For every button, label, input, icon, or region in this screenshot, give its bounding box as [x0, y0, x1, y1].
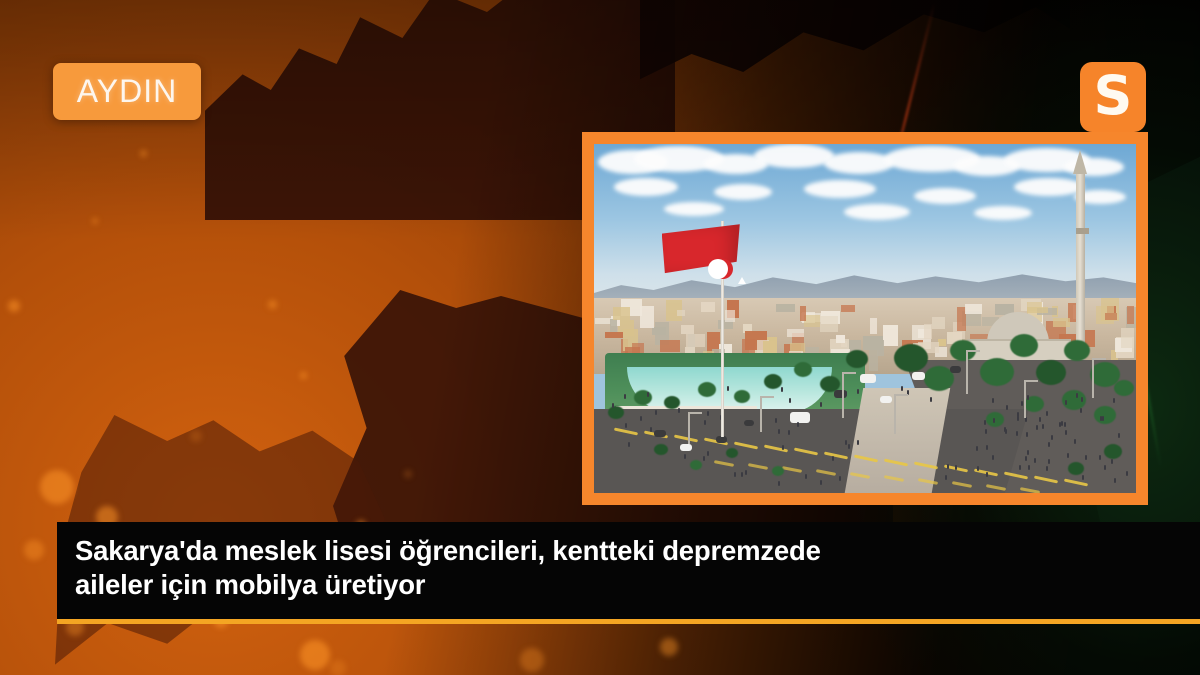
pedestrian: [805, 474, 807, 479]
pedestrian: [1061, 421, 1063, 426]
pedestrian: [684, 454, 686, 459]
tree: [1104, 444, 1122, 459]
tree: [980, 358, 1014, 386]
building: [787, 329, 804, 337]
pedestrian: [1065, 430, 1067, 435]
pedestrian: [845, 440, 847, 445]
building: [1053, 318, 1070, 327]
building: [932, 317, 945, 329]
vehicle: [744, 420, 754, 426]
flag-star-icon: [738, 277, 746, 284]
cloud: [614, 178, 678, 196]
pedestrian: [612, 403, 614, 408]
pedestrian: [1005, 429, 1007, 434]
building: [1027, 307, 1048, 313]
pedestrian: [1048, 459, 1050, 464]
pedestrian: [977, 466, 979, 471]
pedestrian: [781, 387, 783, 392]
pedestrian: [1074, 439, 1076, 444]
building: [681, 325, 694, 334]
pedestrian: [1082, 475, 1084, 480]
building: [804, 315, 820, 327]
tree: [772, 466, 784, 476]
pedestrian: [992, 398, 994, 403]
pedestrian: [857, 440, 859, 445]
pedestrian: [1126, 471, 1128, 476]
pedestrian: [1080, 408, 1082, 413]
pedestrian: [703, 456, 705, 461]
building: [841, 305, 855, 312]
cloud: [914, 188, 976, 204]
brand-logo[interactable]: S: [1080, 62, 1146, 132]
building: [836, 335, 845, 343]
pedestrian: [986, 445, 988, 450]
pedestrian: [625, 423, 627, 428]
building: [660, 340, 680, 352]
pedestrian: [782, 445, 784, 450]
building: [863, 336, 883, 350]
cloud: [714, 184, 772, 200]
tree: [986, 412, 1004, 427]
tree: [698, 382, 716, 397]
headline-bar: Sakarya'da meslek lisesi öğrencileri, ke…: [57, 522, 1200, 624]
pedestrian: [1067, 453, 1069, 458]
building: [1121, 328, 1134, 348]
building: [870, 318, 877, 334]
pedestrian: [1028, 465, 1030, 470]
pedestrian: [1017, 416, 1019, 421]
vehicle: [912, 372, 925, 380]
tree: [794, 362, 812, 377]
pedestrian: [1006, 405, 1008, 410]
pedestrian: [1016, 431, 1018, 436]
pedestrian: [945, 475, 947, 480]
tree: [1064, 340, 1090, 361]
pedestrian: [707, 411, 709, 416]
pedestrian: [1104, 465, 1106, 470]
tree: [1010, 334, 1038, 357]
pedestrian: [1113, 398, 1115, 403]
pedestrian: [930, 397, 932, 402]
building: [1127, 306, 1134, 324]
pedestrian: [1064, 422, 1066, 427]
pedestrian: [1065, 400, 1067, 405]
cloud: [1014, 178, 1084, 196]
tree: [690, 460, 702, 470]
pedestrian: [1046, 411, 1048, 416]
building: [686, 334, 705, 347]
tree: [1114, 380, 1134, 396]
pedestrian: [640, 416, 642, 421]
pedestrian: [734, 472, 736, 477]
building: [924, 324, 932, 339]
pedestrian: [788, 430, 790, 435]
pedestrian: [857, 389, 859, 394]
tree: [608, 406, 624, 419]
pedestrian: [678, 408, 680, 413]
cloud: [824, 152, 894, 174]
brand-logo-letter: S: [1094, 69, 1133, 123]
cloud: [804, 180, 876, 198]
tree: [1094, 406, 1116, 424]
pedestrian: [655, 410, 657, 415]
news-photo: [594, 144, 1136, 493]
pedestrian: [993, 418, 995, 423]
pedestrian: [1027, 450, 1029, 455]
city-badge[interactable]: AYDIN: [53, 63, 201, 120]
pedestrian: [1099, 455, 1101, 460]
pedestrian: [797, 422, 799, 427]
pedestrian: [1085, 455, 1087, 460]
tree: [654, 444, 668, 455]
tree: [846, 350, 868, 368]
pedestrian: [1076, 393, 1078, 398]
news-photo-card[interactable]: [582, 132, 1148, 505]
building: [725, 310, 735, 322]
street-lamp: [1024, 380, 1026, 418]
cloud: [974, 206, 1032, 220]
pedestrian: [1026, 432, 1028, 437]
pedestrian: [1042, 424, 1044, 429]
pedestrian: [704, 420, 706, 425]
pedestrian: [778, 429, 780, 434]
street-lamp: [1092, 358, 1094, 398]
tree: [1036, 360, 1066, 385]
pedestrian: [848, 444, 850, 449]
tree: [634, 390, 652, 405]
pedestrian: [624, 394, 626, 399]
pedestrian: [1039, 417, 1041, 422]
building: [605, 332, 623, 338]
street-lamp: [688, 412, 690, 444]
headline-text: Sakarya'da meslek lisesi öğrencileri, ke…: [75, 534, 1182, 602]
cloud: [664, 202, 724, 216]
pedestrian: [1036, 425, 1038, 430]
cloud: [754, 144, 834, 168]
flag-crescent-icon: [708, 259, 728, 279]
tree: [726, 448, 738, 458]
pedestrian: [820, 402, 822, 407]
vehicle: [654, 430, 666, 437]
tree: [1068, 462, 1084, 475]
building: [701, 302, 715, 312]
building: [938, 339, 946, 346]
pedestrian: [1102, 416, 1104, 421]
pedestrian: [839, 476, 841, 481]
pedestrian: [985, 429, 987, 434]
pedestrian: [741, 472, 743, 477]
street-lamp: [760, 396, 762, 432]
pedestrian: [1118, 433, 1120, 438]
building: [776, 304, 795, 312]
pedestrian: [832, 456, 834, 461]
pedestrian: [986, 472, 988, 477]
pedestrian: [1027, 395, 1029, 400]
pedestrian: [789, 398, 791, 403]
news-card: AYDIN S: [0, 0, 1200, 675]
pedestrian: [955, 465, 957, 470]
pedestrian: [947, 464, 949, 469]
building: [883, 325, 898, 346]
pedestrian: [650, 427, 652, 432]
tree: [894, 344, 928, 372]
pedestrian: [992, 455, 994, 460]
vehicle: [790, 412, 810, 423]
pedestrian: [1048, 442, 1050, 447]
pedestrian: [984, 420, 986, 425]
vehicle: [860, 374, 876, 383]
street-lamp: [966, 350, 968, 394]
bottom-strip: [0, 629, 1200, 675]
building: [965, 304, 982, 314]
minaret-balcony: [1076, 228, 1089, 234]
vehicle: [950, 366, 961, 373]
cloud: [844, 204, 910, 220]
building: [820, 316, 838, 332]
building: [652, 327, 666, 335]
building: [613, 307, 630, 320]
tree: [764, 374, 782, 389]
pedestrian: [976, 446, 978, 451]
pedestrian: [901, 386, 903, 391]
building: [1105, 313, 1117, 320]
pedestrian: [1021, 401, 1023, 406]
street-lamp: [842, 372, 844, 418]
pedestrian: [1051, 435, 1053, 440]
pedestrian: [1025, 456, 1027, 461]
vehicle: [680, 444, 692, 451]
pedestrian: [647, 392, 649, 397]
pedestrian: [1046, 466, 1048, 471]
pedestrian: [1034, 458, 1036, 463]
pedestrian: [1111, 459, 1113, 464]
pedestrian: [845, 391, 847, 396]
pedestrian: [820, 480, 822, 485]
pedestrian: [628, 442, 630, 447]
pedestrian: [745, 470, 747, 475]
street-lamp: [894, 394, 896, 434]
building: [800, 306, 806, 321]
pedestrian: [778, 481, 780, 486]
pedestrian: [727, 386, 729, 391]
pedestrian: [775, 418, 777, 423]
tree: [734, 390, 750, 403]
pedestrian: [1081, 397, 1083, 402]
pedestrian: [1019, 465, 1021, 470]
vehicle: [880, 396, 892, 403]
building: [640, 306, 654, 328]
pedestrian: [1114, 478, 1116, 483]
tree: [664, 396, 680, 409]
building: [677, 310, 685, 316]
city-badge-label: AYDIN: [77, 73, 177, 110]
pedestrian: [707, 451, 709, 456]
